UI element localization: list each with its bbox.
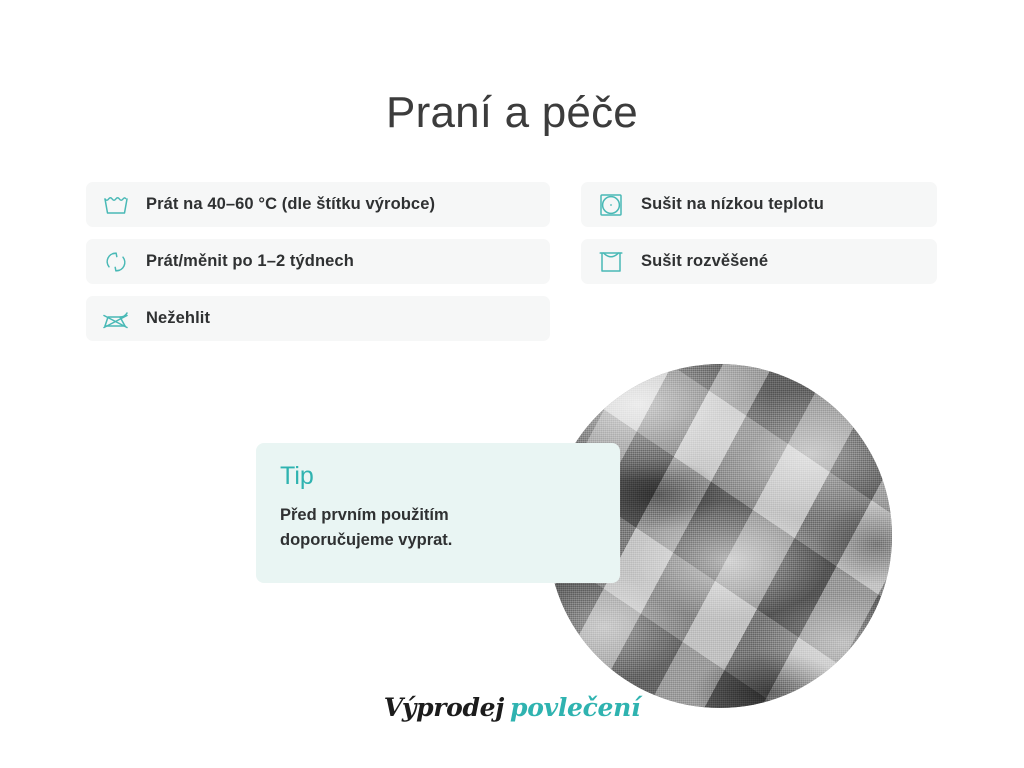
care-list-right: Sušit na nízkou teplotu Sušit rozvěšené (581, 182, 937, 296)
care-row-label: Prát na 40–60 °C (dle štítku výrobce) (146, 195, 435, 214)
tip-body-line-1: Před prvním použitím (280, 503, 530, 529)
line-dry-icon (595, 247, 627, 277)
care-list-left: Prát na 40–60 °C (dle štítku výrobce) Pr… (86, 182, 550, 353)
tumble-dry-low-icon (595, 190, 627, 220)
page-title: Praní a péče (0, 87, 1024, 140)
do-not-iron-icon (100, 304, 132, 334)
care-row: Sušit rozvěšené (581, 239, 937, 284)
care-row: Sušit na nízkou teplotu (581, 182, 937, 227)
care-row-label: Prát/měnit po 1–2 týdnech (146, 252, 354, 271)
care-row-label: Sušit na nízkou teplotu (641, 195, 824, 214)
wash-tub-icon (100, 190, 132, 220)
care-row-label: Sušit rozvěšené (641, 252, 768, 271)
tip-body: Před prvním použitím doporučujeme vyprat… (280, 503, 530, 554)
tip-card: Tip Před prvním použitím doporučujeme vy… (256, 443, 620, 583)
tip-body-line-2: doporučujeme vyprat. (280, 528, 530, 554)
brand-logo: Výprodejpovlečení (0, 693, 1024, 722)
care-row: Prát na 40–60 °C (dle štítku výrobce) (86, 182, 550, 227)
brand-logo-part-two: povlečení (510, 693, 640, 722)
cycle-arrows-icon (100, 247, 132, 277)
care-row: Prát/měnit po 1–2 týdnech (86, 239, 550, 284)
tip-heading: Tip (280, 463, 596, 491)
brand-logo-part-one: Výprodej (384, 693, 504, 722)
care-row-label: Nežehlit (146, 309, 210, 328)
care-row: Nežehlit (86, 296, 550, 341)
care-instructions-page: Praní a péče Prát na 40–60 °C (dle štítk… (0, 0, 1024, 768)
